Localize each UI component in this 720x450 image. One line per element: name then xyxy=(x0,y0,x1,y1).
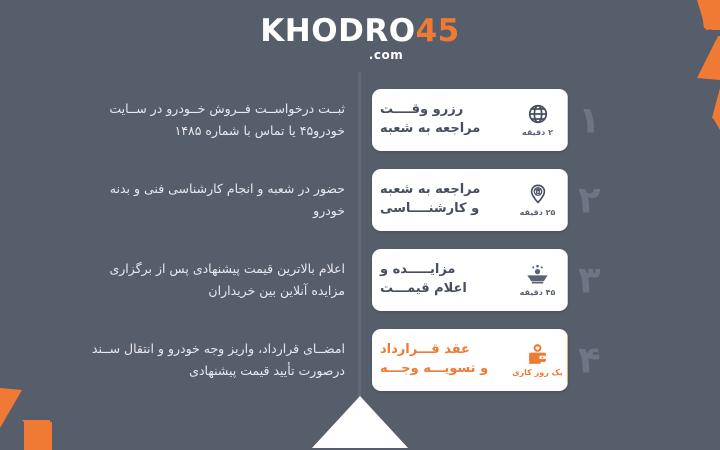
step-title-line2-2: و کارشنــــاسی xyxy=(380,200,479,219)
step-title-line2-4: و تسویـــه وجـــه xyxy=(380,360,488,379)
step-meta-4: یک روز کاری xyxy=(508,329,568,391)
step-title-2: مراجعه به شعبه و کارشنــــاسی xyxy=(372,169,508,231)
step-meta-3: ۴۵ دقیقه xyxy=(508,249,568,311)
step-duration-1: ۲ دقیقه xyxy=(522,128,553,137)
logo-khodro-text: KHODRO xyxy=(260,13,415,49)
step-title-line1-3: مزایـــــده و xyxy=(380,261,455,280)
step-description-3: اعلام بالاترین قیمت پیشنهادی پس از برگزا… xyxy=(78,258,345,302)
step-duration-4: یک روز کاری xyxy=(512,368,563,377)
step-number-2: ۲ xyxy=(578,182,601,219)
auction-bidders-icon xyxy=(526,263,549,285)
step-number-4: ۴ xyxy=(578,342,601,379)
step-row-4: امضــای قرارداد، واریز وجه خودرو و انتقا… xyxy=(0,320,720,400)
brand-logo: KHODRO45 .com xyxy=(0,16,720,61)
step-card-2[interactable]: مراجعه به شعبه و کارشنــــاسی ۲۵ دقیقه xyxy=(372,169,568,231)
infographic-canvas: KHODRO45 .com ثبــت درخواســت فــروش خــ… xyxy=(0,0,720,450)
step-row-1: ثبــت درخواســت فــروش خــودرو در ســایت… xyxy=(0,80,720,160)
step-duration-3: ۴۵ دقیقه xyxy=(520,288,556,297)
step-meta-2: ۲۵ دقیقه xyxy=(508,169,568,231)
step-duration-2: ۲۵ دقیقه xyxy=(520,208,556,217)
globe-icon xyxy=(527,103,549,125)
logo-text: KHODRO45 xyxy=(260,16,459,47)
step-row-2: حضور در شعبه و انجام کارشناسی فنی و بدنه… xyxy=(0,160,720,240)
step-title-line1-4: عقد قـــرارداد xyxy=(380,341,470,360)
step-title-3: مزایـــــده و اعلام قیمـــت xyxy=(372,249,508,311)
step-title-1: رزرو وقــــت مراجعه به شعبه xyxy=(372,89,508,151)
step-title-line1-2: مراجعه به شعبه xyxy=(380,181,480,200)
wallet-payment-icon xyxy=(526,343,549,365)
step-number-3: ۳ xyxy=(578,262,601,299)
logo-45-text: 45 xyxy=(416,13,460,49)
step-title-4: عقد قـــرارداد و تسویـــه وجـــه xyxy=(372,329,508,391)
location-pin-bank-icon xyxy=(527,183,549,205)
step-meta-1: ۲ دقیقه xyxy=(508,89,568,151)
step-card-4[interactable]: عقد قـــرارداد و تسویـــه وجـــه xyxy=(372,329,568,391)
step-row-3: اعلام بالاترین قیمت پیشنهادی پس از برگزا… xyxy=(0,240,720,320)
step-card-3[interactable]: مزایـــــده و اعلام قیمـــت xyxy=(372,249,568,311)
steps-list: ثبــت درخواســت فــروش خــودرو در ســایت… xyxy=(0,80,720,400)
step-card-1[interactable]: رزرو وقــــت مراجعه به شعبه ۲ دقیقه xyxy=(372,89,568,151)
step-title-line2-3: اعلام قیمـــت xyxy=(380,280,467,299)
deco-shape-bottom-left-3 xyxy=(22,420,50,450)
timeline-arrow-marker xyxy=(312,396,408,448)
step-description-4: امضــای قرارداد، واریز وجه خودرو و انتقا… xyxy=(78,338,345,382)
step-description-2: حضور در شعبه و انجام کارشناسی فنی و بدنه… xyxy=(78,178,345,222)
logo-tld-text: .com xyxy=(52,49,720,61)
deco-shape-bottom-left-2 xyxy=(24,422,52,450)
step-number-1: ۱ xyxy=(578,102,601,139)
step-title-line1-1: رزرو وقــــت xyxy=(380,101,463,120)
step-description-1: ثبــت درخواســت فــروش خــودرو در ســایت… xyxy=(78,98,345,142)
step-title-line2-1: مراجعه به شعبه xyxy=(380,120,480,139)
